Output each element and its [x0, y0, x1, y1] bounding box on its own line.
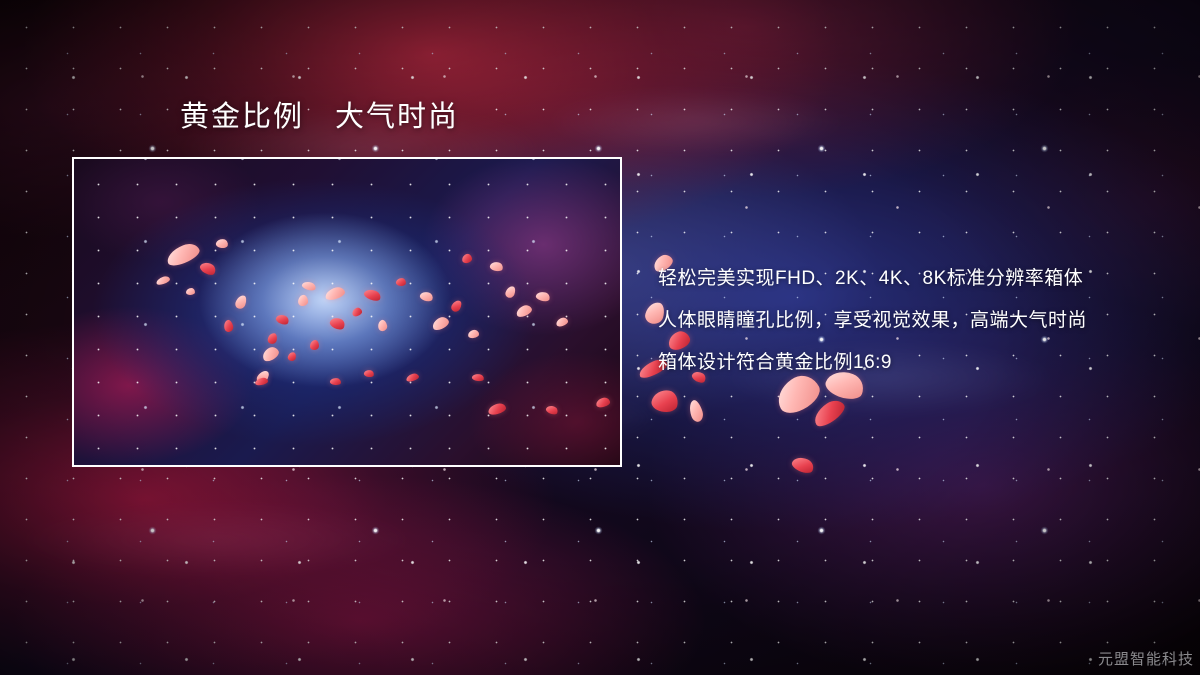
body-line: 轻松完美实现FHD、2K、4K、8K标准分辨率箱体: [658, 258, 1178, 300]
framed-image: [72, 157, 622, 467]
watermark: 元盟智能科技: [1098, 648, 1194, 669]
body-line: 人体眼睛瞳孔比例，享受视觉效果，高端大气时尚: [658, 300, 1178, 342]
petal-shape: [790, 454, 816, 476]
inner-starfield: [74, 159, 620, 465]
presentation-slide: 黄金比例 大气时尚 轻松完美实现FHD、2K、4K、8K标准分辨率箱体 人体眼睛…: [0, 0, 1200, 675]
petal-shape: [650, 388, 680, 415]
body-text-block: 轻松完美实现FHD、2K、4K、8K标准分辨率箱体 人体眼睛瞳孔比例，享受视觉效…: [658, 258, 1178, 384]
page-title: 黄金比例 大气时尚: [180, 103, 459, 132]
petal-shape: [687, 399, 705, 424]
petal-shape: [810, 396, 848, 430]
body-line: 箱体设计符合黄金比例16:9: [658, 342, 1178, 384]
